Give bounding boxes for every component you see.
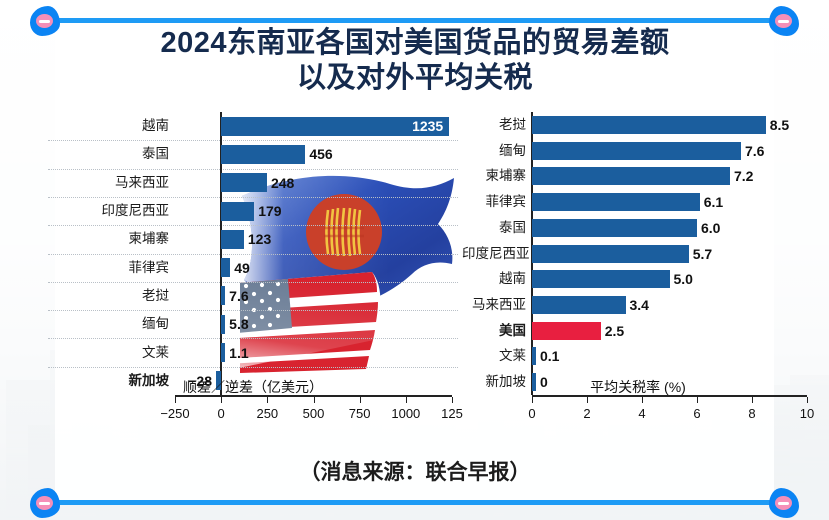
gridline — [48, 169, 458, 170]
x-axis-tick — [267, 397, 268, 403]
gridline — [48, 197, 458, 198]
category-label: 文莱 — [462, 349, 526, 363]
x-axis-tick — [175, 397, 176, 403]
x-axis-tick — [314, 397, 315, 403]
value-label: 49 — [234, 261, 250, 275]
bar — [221, 258, 230, 277]
category-label: 缅甸 — [48, 317, 169, 331]
bar — [221, 315, 225, 334]
gridline — [48, 282, 458, 283]
bar — [221, 343, 225, 362]
pin-marker-bottom-left — [28, 488, 62, 518]
bar — [221, 145, 305, 164]
x-axis-tick — [587, 397, 588, 403]
bar — [221, 202, 254, 221]
bar — [532, 116, 766, 134]
category-label: 泰国 — [48, 147, 169, 161]
category-label: 越南 — [462, 272, 526, 286]
bar — [221, 173, 267, 192]
rail-line — [45, 500, 784, 505]
bar — [532, 167, 730, 185]
bar — [532, 193, 700, 211]
category-label: 老挝 — [462, 118, 526, 132]
bar — [221, 286, 225, 305]
x-axis-tick — [642, 397, 643, 403]
value-label: 6.1 — [704, 195, 723, 209]
plot-area-average-tariff: 老挝8.5缅甸7.6柬埔寨7.2菲律宾6.1泰国6.0印度尼西亚5.7越南5.0… — [462, 112, 814, 395]
bar — [221, 230, 244, 249]
value-label: 7.2 — [734, 169, 753, 183]
bar — [532, 347, 536, 365]
bar — [532, 245, 689, 263]
x-axis-tick — [752, 397, 753, 403]
value-label: 0.1 — [540, 349, 559, 363]
value-label: 123 — [248, 232, 271, 246]
x-axis-tick-label: 6 — [667, 407, 727, 420]
value-label: 8.5 — [770, 118, 789, 132]
gridline — [48, 225, 458, 226]
value-label: 1235 — [405, 119, 443, 133]
gridline — [48, 310, 458, 311]
value-label: 6.0 — [701, 221, 720, 235]
pin-dash-icon — [778, 20, 789, 23]
pin-dash-icon — [39, 20, 50, 23]
x-axis-tick-label: 4 — [612, 407, 672, 420]
chart-average-tariff: 老挝8.5缅甸7.6柬埔寨7.2菲律宾6.1泰国6.0印度尼西亚5.7越南5.0… — [462, 112, 814, 412]
decorative-rail-bottom — [0, 484, 829, 520]
category-label: 柬埔寨 — [462, 169, 526, 183]
x-axis-label-average-tariff: 平均关税率 (%) — [462, 380, 814, 394]
value-label: 7.6 — [229, 289, 248, 303]
pin-dash-icon — [778, 502, 789, 505]
gridline — [48, 254, 458, 255]
category-label: 菲律宾 — [48, 261, 169, 275]
x-axis-tick — [406, 397, 407, 403]
x-axis-tick — [697, 397, 698, 403]
x-axis-tick — [360, 397, 361, 403]
category-label: 马来西亚 — [48, 176, 169, 190]
bar — [532, 296, 626, 314]
gridline — [48, 338, 458, 339]
source-note: （消息来源：联合早报） — [60, 456, 770, 486]
category-label: 柬埔寨 — [48, 232, 169, 246]
category-label: 泰国 — [462, 221, 526, 235]
x-axis-tick — [452, 397, 453, 403]
x-axis-tick-label: 8 — [722, 407, 782, 420]
infographic-root: 2024东南亚各国对美国货品的贸易差额 以及对外平均关税 — [0, 0, 829, 520]
pin-marker-bottom-right — [767, 488, 801, 518]
x-axis-tick — [221, 397, 222, 403]
pin-marker-top-left — [28, 6, 62, 36]
chart-trade-balance: 越南1235泰国456马来西亚248印度尼西亚179柬埔寨123菲律宾49老挝7… — [48, 112, 458, 412]
value-label: 456 — [309, 147, 332, 161]
category-label: 印度尼西亚 — [462, 247, 526, 261]
value-label: 5.8 — [229, 317, 248, 331]
bar — [532, 142, 741, 160]
category-label: 越南 — [48, 119, 169, 133]
value-label: 5.7 — [693, 247, 712, 261]
x-axis-tick — [807, 397, 808, 403]
category-label: 印度尼西亚 — [48, 204, 169, 218]
page-title: 2024东南亚各国对美国货品的贸易差额 以及对外平均关税 — [60, 26, 770, 96]
value-label: 3.4 — [630, 298, 649, 312]
value-label: 5.0 — [674, 272, 693, 286]
category-label: 马来西亚 — [462, 298, 526, 312]
x-axis-tick-label: 10 — [777, 407, 829, 420]
value-label: 2.5 — [605, 324, 624, 338]
value-label: 248 — [271, 176, 294, 190]
plot-area-trade-balance: 越南1235泰国456马来西亚248印度尼西亚179柬埔寨123菲律宾49老挝7… — [48, 112, 458, 395]
value-label: 1.1 — [229, 346, 248, 360]
x-axis-line — [532, 395, 807, 397]
category-label: 菲律宾 — [462, 195, 526, 209]
bar — [532, 219, 697, 237]
category-label: 缅甸 — [462, 144, 526, 158]
category-label: 美国 — [462, 324, 526, 338]
category-label: 文莱 — [48, 346, 169, 360]
category-label: 老挝 — [48, 289, 169, 303]
x-axis-label-trade-balance: 顺差／逆差（亿美元） — [48, 380, 458, 394]
rail-line — [45, 18, 784, 23]
x-axis-tick-label: 0 — [502, 407, 562, 420]
x-axis-tick-label: 2 — [557, 407, 617, 420]
value-label: 7.6 — [745, 144, 764, 158]
x-axis-tick — [532, 397, 533, 403]
value-label: 179 — [258, 204, 281, 218]
pin-dash-icon — [39, 502, 50, 505]
pin-marker-top-right — [767, 6, 801, 36]
gridline — [48, 140, 458, 141]
gridline — [48, 367, 458, 368]
bar — [532, 270, 670, 288]
bar — [532, 322, 601, 340]
